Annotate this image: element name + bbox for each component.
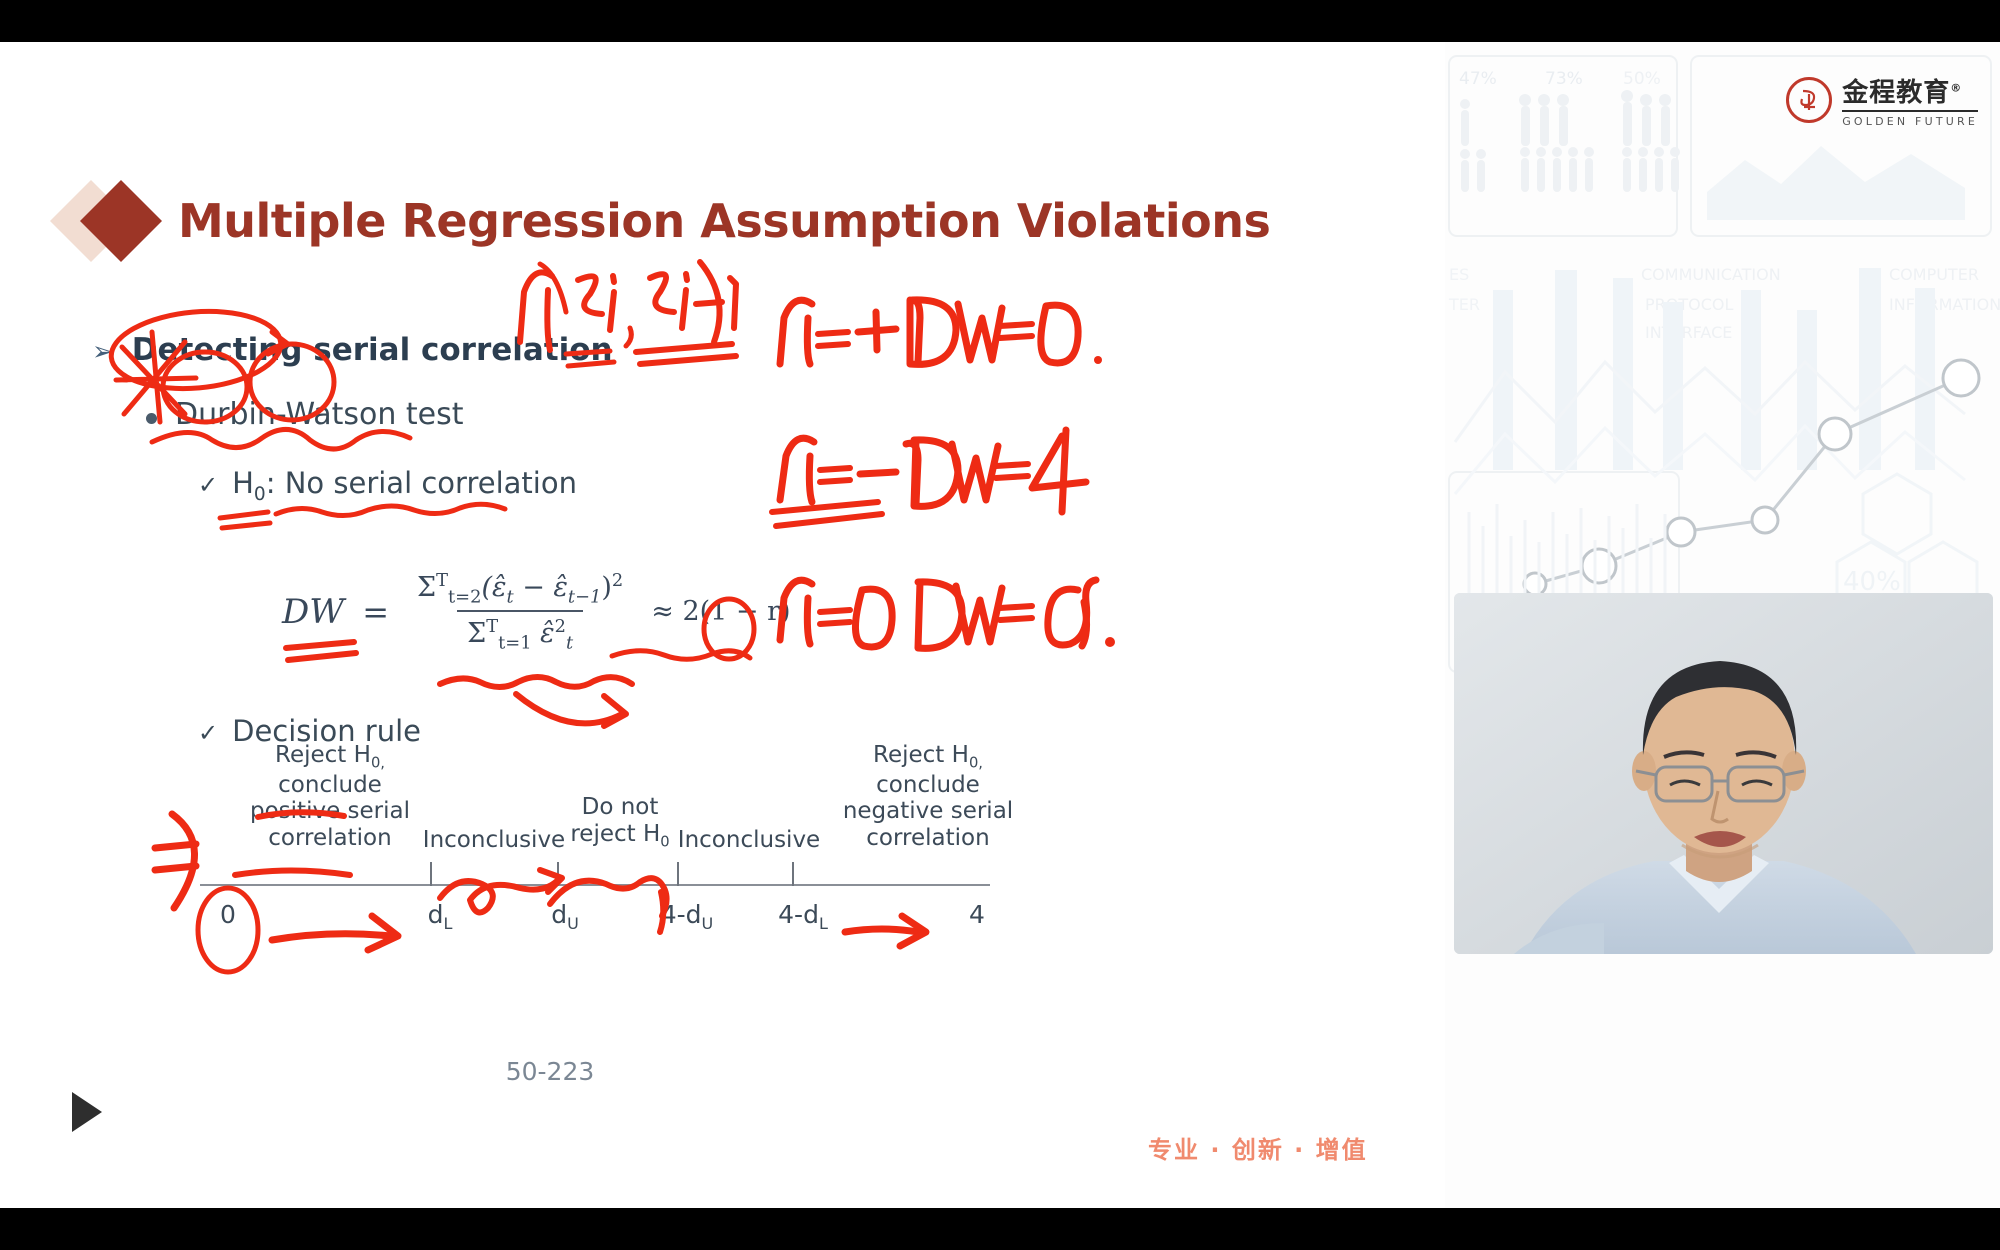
logo-english-name: GOLDEN FUTURE — [1842, 115, 1978, 128]
presenter-webcam-video[interactable] — [1454, 593, 1993, 954]
formula-approximation: ≈ 2(1 − r) — [651, 596, 790, 627]
decision-axis-line — [200, 884, 990, 886]
formula-equals: = — [362, 593, 389, 631]
axis-label-4dl: 4-dL — [778, 900, 828, 933]
zone-reject-positive: Reject H0, conclude positive serial corr… — [230, 742, 430, 852]
logo-seal-icon — [1786, 77, 1832, 123]
bg-pct-50: 50% — [1623, 69, 1661, 89]
ink-squiggle-denominator — [440, 677, 632, 687]
ink-underline-h0-b — [222, 523, 270, 528]
zone-reject-negative: Reject H0, conclude negative serial corr… — [828, 742, 1028, 852]
bullet-2-label: Durbin-Watson test — [175, 397, 464, 432]
ink-curve-arrow — [516, 694, 622, 723]
zone5-line4: correlation — [828, 825, 1028, 852]
right-panel: 47% 73% 50% — [1445, 42, 2000, 1208]
title-row: Multiple Regression Assumption Violation… — [62, 192, 1270, 250]
formula-numerator: ΣTt=2(ε̂t − ε̂t−1)2 — [407, 570, 633, 610]
axis-label-4du: 4-dU — [661, 900, 714, 933]
bg-zigzag-2 — [1455, 426, 1965, 494]
check-icon-2: ✓ — [198, 719, 218, 748]
ink-squiggle-no-serial — [276, 504, 505, 515]
axis-label-4: 4 — [969, 900, 985, 933]
bg-word-information: INFORMATION — [1889, 295, 2000, 314]
ink-underline-h0-a — [220, 512, 268, 518]
axis-label-du: dU — [551, 900, 579, 933]
logo-chinese-name: 金程教育® — [1842, 72, 1978, 112]
bg-word-communication: COMMUNICATION — [1641, 265, 1781, 284]
bullet-dot-icon — [146, 413, 157, 424]
ink-annotation-line2 — [772, 430, 1086, 526]
page-number: 50-223 — [0, 1057, 1100, 1086]
axis-tick-4du — [677, 862, 679, 886]
zone-inconclusive-right: Inconclusive — [670, 827, 828, 854]
zone1-line2: conclude — [230, 772, 430, 799]
bg-word-computer: COMPUTER — [1889, 265, 1979, 284]
ink-squiggle-durbin-watson — [152, 429, 410, 449]
bg-word-es: ES — [1449, 265, 1469, 284]
formula-fraction: ΣTt=2(ε̂t − ε̂t−1)2 ΣTt=1 ε̂2t — [407, 570, 633, 654]
bullet-null-hypothesis: ✓ H0: No serial correlation — [198, 466, 577, 505]
formula-lhs: DW — [282, 592, 344, 632]
letterbox-top — [0, 0, 2000, 42]
bg-word-interface: INTERFACE — [1645, 323, 1732, 342]
bg-area-chart — [1707, 146, 1965, 220]
bg-pct-47: 47% — [1459, 69, 1497, 89]
bullet-3-label: H0: No serial correlation — [232, 466, 577, 505]
bullet-detecting-serial-correlation: ➢ Detecting serial correlation — [92, 332, 613, 368]
zone-inconclusive-left: Inconclusive — [415, 827, 573, 854]
zone1-line4: correlation — [230, 825, 430, 852]
bg-pct-73: 73% — [1545, 69, 1583, 89]
ink-curve-arrowhead — [604, 696, 626, 726]
zone5-line2: conclude — [828, 772, 1028, 799]
decision-rule-diagram: Reject H0, conclude positive serial corr… — [190, 752, 1000, 962]
zone3-line1: Do not — [560, 794, 680, 821]
zone1-line3: positive serial — [230, 798, 430, 825]
bg-people-pictograms — [1460, 90, 1680, 192]
axis-label-dl: dL — [428, 900, 453, 933]
presenter-figure — [1454, 593, 1993, 954]
zone-do-not-reject: Do not reject H0 — [560, 794, 680, 850]
check-icon: ✓ — [198, 471, 218, 500]
logo-monogram-icon — [1794, 85, 1824, 115]
zone1-line1: Reject H0, — [230, 742, 430, 772]
ink-underline-dw-b — [288, 653, 356, 660]
bullet-durbin-watson-test: Durbin-Watson test — [146, 397, 464, 432]
play-next-slide-button[interactable] — [72, 1092, 102, 1132]
zone3-line2: reject H0 — [560, 821, 680, 851]
logo-text-block: 金程教育® GOLDEN FUTURE — [1842, 72, 1978, 128]
axis-label-0: 0 — [220, 900, 236, 933]
zone5-line3: negative serial — [828, 798, 1028, 825]
chevron-right-icon: ➢ — [92, 338, 114, 364]
brand-logo: 金程教育® GOLDEN FUTURE — [1786, 72, 1978, 128]
slide-canvas[interactable]: Multiple Regression Assumption Violation… — [0, 42, 1445, 1208]
bg-word-protocol: PROTOCOL — [1645, 295, 1733, 314]
formula-denominator: ΣTt=1 ε̂2t — [457, 610, 583, 653]
durbin-watson-formula: DW = ΣTt=2(ε̂t − ε̂t−1)2 ΣTt=1 ε̂2t ≈ 2(… — [282, 570, 791, 654]
axis-tick-4dl — [792, 862, 794, 886]
bullet-1-label: Detecting serial correlation — [132, 332, 613, 368]
bg-zigzag-1 — [1455, 362, 1965, 442]
axis-tick-dl — [430, 862, 432, 886]
axis-tick-du — [557, 862, 559, 886]
letterbox-bottom — [0, 1208, 2000, 1250]
screen: Multiple Regression Assumption Violation… — [0, 0, 2000, 1250]
bg-word-ter: TER — [1448, 295, 1480, 314]
page-title: Multiple Regression Assumption Violation… — [178, 194, 1270, 248]
zone5-line1: Reject H0, — [828, 742, 1028, 772]
brand-tagline: 专业 · 创新 · 增值 — [1148, 1130, 1368, 1165]
ink-annotation-line1 — [780, 300, 1102, 364]
ink-annotation-line3 — [780, 580, 1115, 648]
